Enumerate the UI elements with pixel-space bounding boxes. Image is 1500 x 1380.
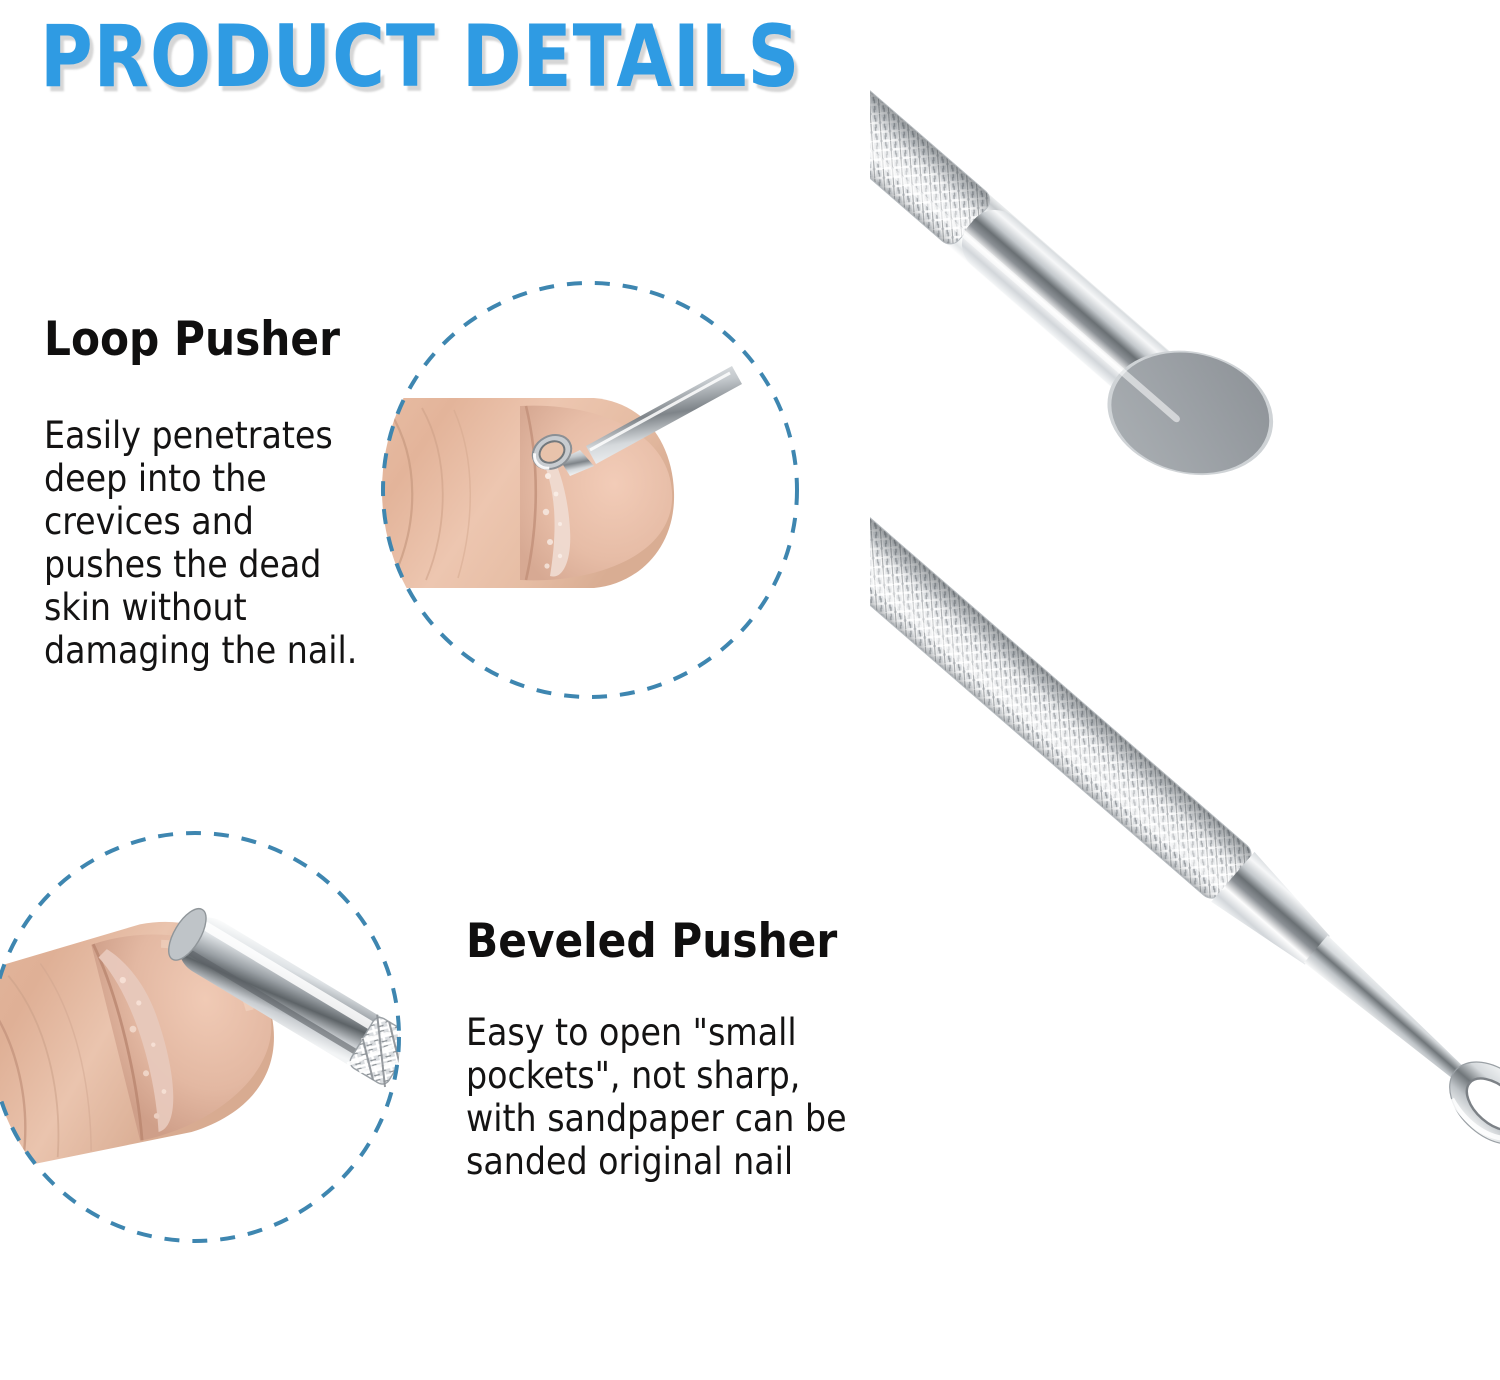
- callout-dashed-ring: [380, 280, 800, 700]
- page-title: PRODUCT DETAILS: [40, 14, 800, 100]
- body-line: crevices and: [44, 501, 384, 544]
- beveled-pusher-tool: [870, 0, 1326, 548]
- feature-heading-beveled-pusher: Beveled Pusher: [466, 918, 837, 966]
- infographic-canvas: PRODUCT DETAILS: [0, 0, 1500, 1366]
- feature-body-loop-pusher: Easily penetrates deep into the crevices…: [44, 415, 384, 672]
- callout-dashed-ring: [0, 830, 402, 1244]
- loop-pusher-tool: [870, 105, 1500, 1161]
- body-line: Easily penetrates: [44, 415, 384, 458]
- callout-beveled-pusher: [0, 830, 402, 1244]
- body-line: sanded original nail: [466, 1141, 916, 1184]
- feature-heading-loop-pusher: Loop Pusher: [44, 316, 340, 364]
- body-line: pushes the dead: [44, 544, 384, 587]
- body-line: pockets", not sharp,: [466, 1055, 916, 1098]
- body-line: with sandpaper can be: [466, 1098, 916, 1141]
- body-line: deep into the: [44, 458, 384, 501]
- product-photo: [870, 0, 1500, 1380]
- body-line: Easy to open "small: [466, 1012, 916, 1055]
- feature-body-beveled-pusher: Easy to open "small pockets", not sharp,…: [466, 1012, 916, 1184]
- body-line: damaging the nail.: [44, 630, 384, 673]
- body-line: skin without: [44, 587, 384, 630]
- callout-loop-pusher: [380, 280, 800, 700]
